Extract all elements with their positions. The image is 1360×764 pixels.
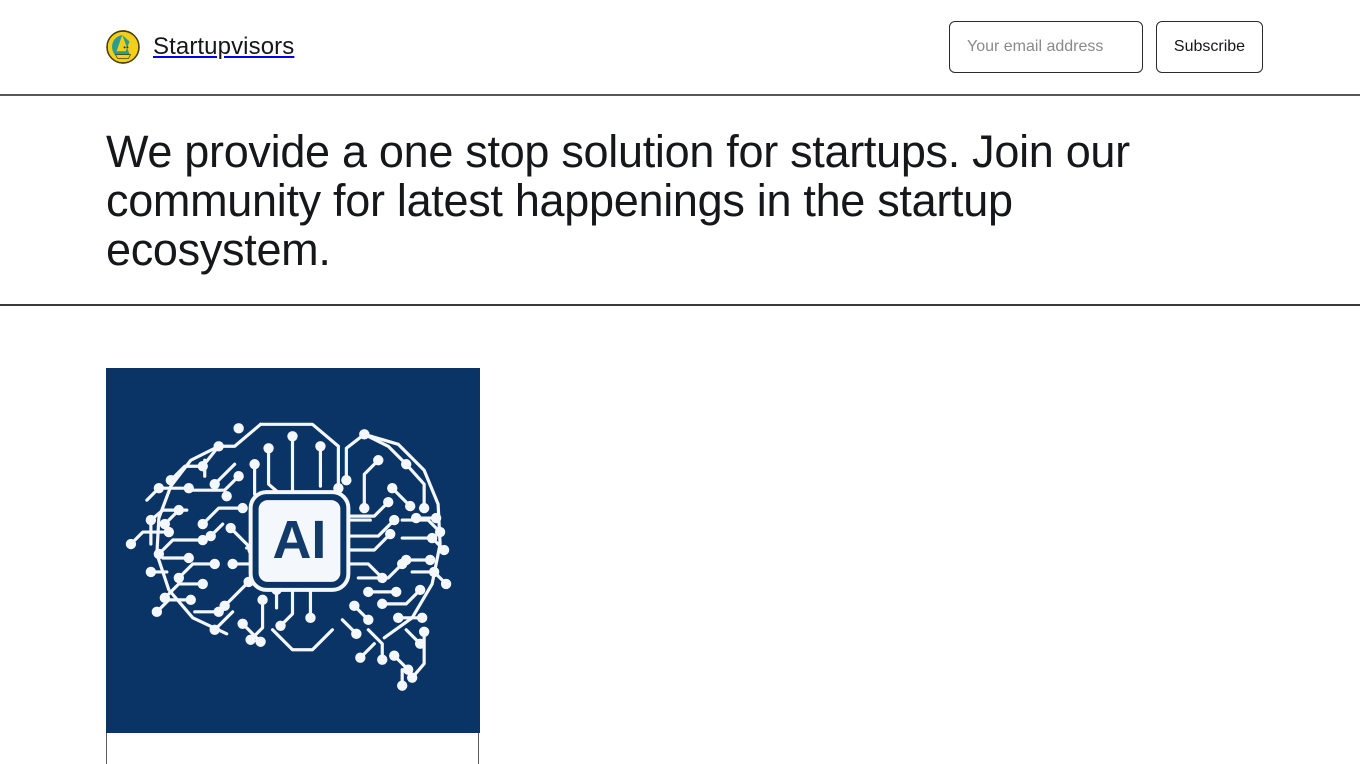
subscribe-form: Subscribe: [949, 21, 1263, 73]
ai-circuit-brain-image: AI: [106, 368, 480, 733]
hero-section: We provide a one stop solution for start…: [0, 96, 1360, 306]
post-feed: AI SV Master- Leveraging OpenAI (ChatGPT…: [0, 306, 1360, 764]
brand-name: Startupvisors: [153, 35, 294, 59]
post-card-body: SV Master- Leveraging OpenAI (ChatGPT) w…: [107, 733, 478, 764]
site-header: Startupvisors Subscribe: [0, 0, 1360, 96]
ai-chip-label: AI: [272, 510, 326, 570]
page-root: Startupvisors Subscribe We provide a one…: [0, 0, 1360, 764]
hero-headline: We provide a one stop solution for start…: [106, 127, 1206, 274]
brand-home-link[interactable]: Startupvisors: [106, 30, 294, 64]
post-card[interactable]: AI SV Master- Leveraging OpenAI (ChatGPT…: [106, 369, 479, 764]
email-input[interactable]: [949, 21, 1143, 73]
post-title: SV Master- Leveraging OpenAI (ChatGPT) w…: [123, 759, 456, 764]
subscribe-button[interactable]: Subscribe: [1156, 21, 1263, 73]
startupvisors-logo-icon: [106, 30, 140, 64]
